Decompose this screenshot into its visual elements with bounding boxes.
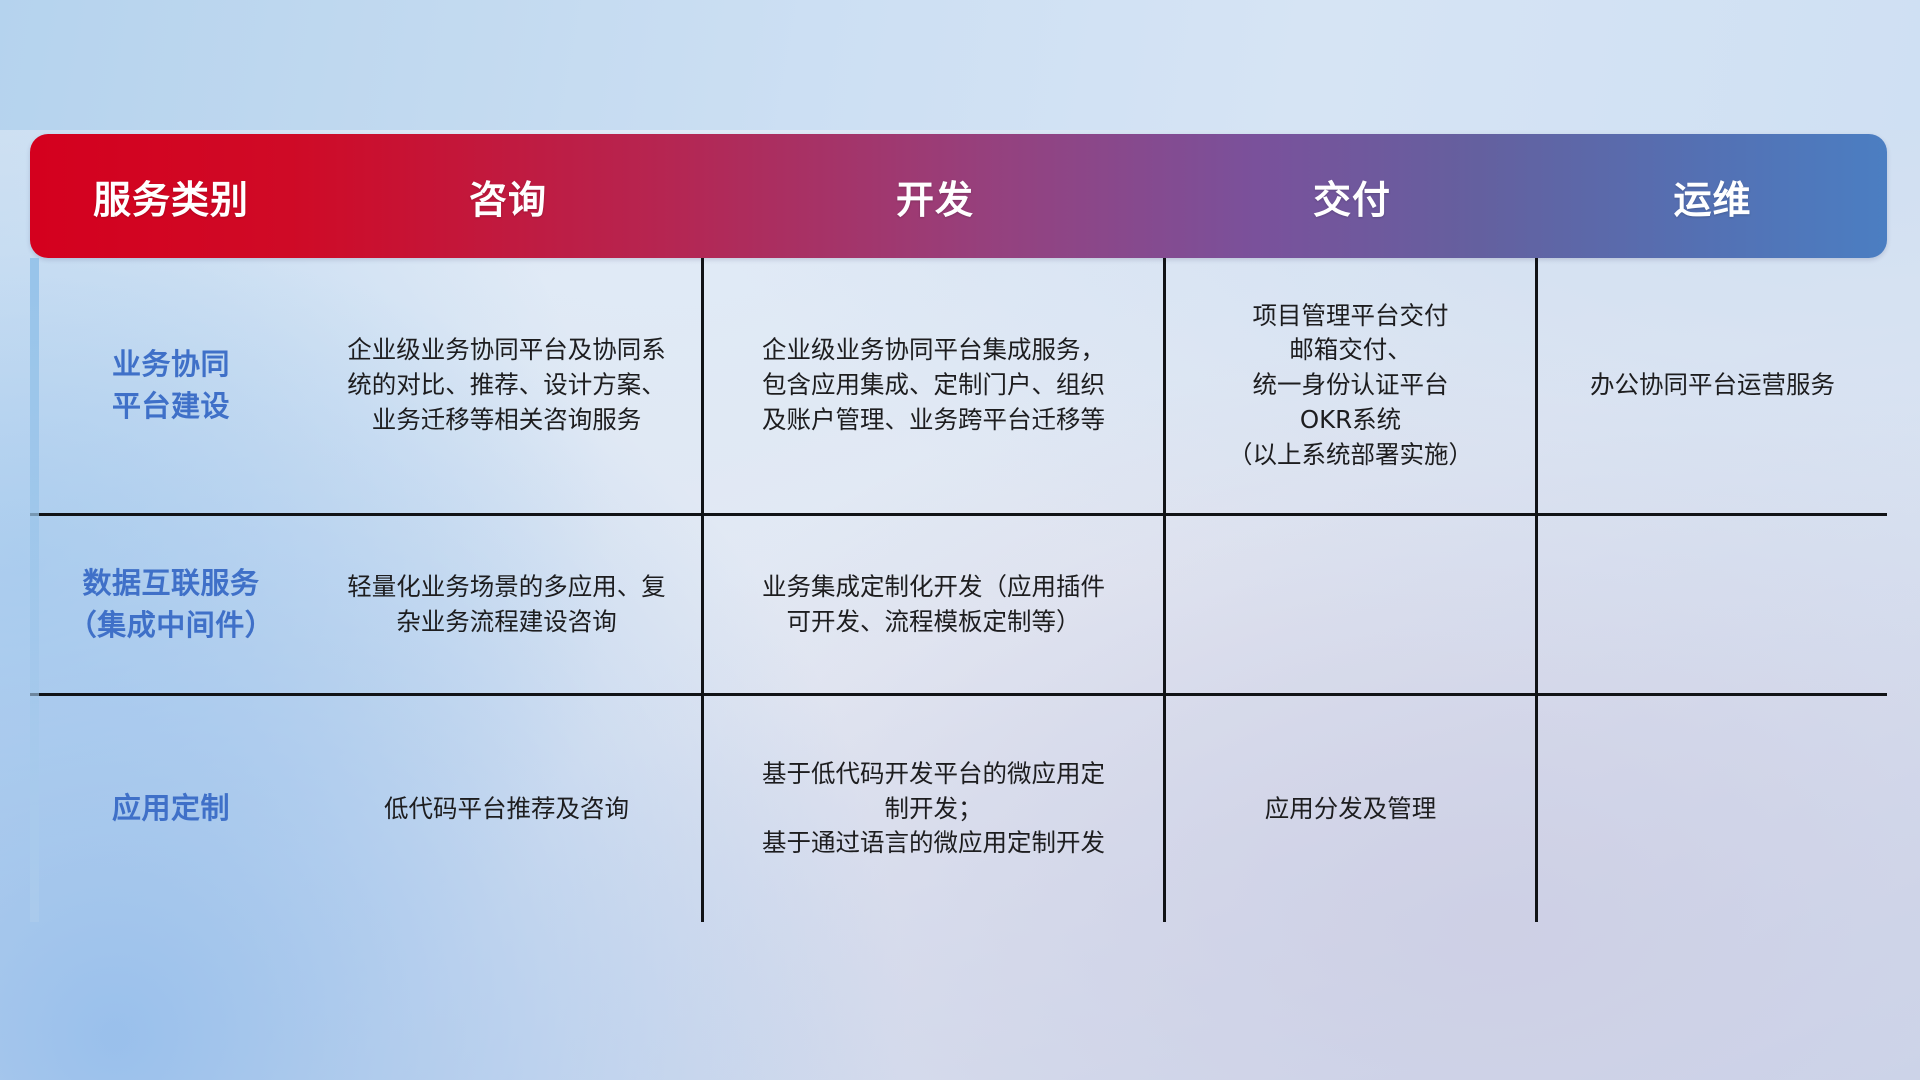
table-row: 应用定制 低代码平台推荐及咨询 基于低代码开发平台的微应用定 制开发； 基于通过… <box>30 696 1887 922</box>
cell-development: 企业级业务协同平台集成服务， 包含应用集成、定制门户、组织 及账户管理、业务跨平… <box>704 258 1166 516</box>
cell-consulting: 低代码平台推荐及咨询 <box>312 696 704 922</box>
slide-background-top-strip <box>0 0 1920 130</box>
table-header-cell-category: 服务类别 <box>30 134 312 258</box>
row-category-label: 数据互联服务 （集成中间件） <box>30 516 312 696</box>
cell-consulting: 轻量化业务场景的多应用、复 杂业务流程建设咨询 <box>312 516 704 696</box>
table-header-cell-consulting: 咨询 <box>312 134 704 258</box>
cell-development: 业务集成定制化开发（应用插件 可开发、流程模板定制等） <box>704 516 1166 696</box>
table-row: 数据互联服务 （集成中间件） 轻量化业务场景的多应用、复 杂业务流程建设咨询 业… <box>30 516 1887 696</box>
cell-delivery: 项目管理平台交付 邮箱交付、 统一身份认证平台 OKR系统 （以上系统部署实施） <box>1166 258 1538 516</box>
row-category-label: 应用定制 <box>30 696 312 922</box>
table-header-cell-operations: 运维 <box>1538 134 1887 258</box>
cell-development: 基于低代码开发平台的微应用定 制开发； 基于通过语言的微应用定制开发 <box>704 696 1166 922</box>
cell-operations: 办公协同平台运营服务 <box>1538 258 1887 516</box>
service-matrix-table: 服务类别 咨询 开发 交付 运维 业务协同 平台建设 企业级业务协同平台及协同系… <box>30 134 1887 954</box>
cell-operations <box>1538 516 1887 696</box>
table-header-cell-development: 开发 <box>704 134 1166 258</box>
row-category-label: 业务协同 平台建设 <box>30 258 312 516</box>
cell-consulting: 企业级业务协同平台及协同系 统的对比、推荐、设计方案、 业务迁移等相关咨询服务 <box>312 258 704 516</box>
cell-delivery: 应用分发及管理 <box>1166 696 1538 922</box>
cell-operations <box>1538 696 1887 922</box>
table-body: 业务协同 平台建设 企业级业务协同平台及协同系 统的对比、推荐、设计方案、 业务… <box>30 258 1887 922</box>
table-row: 业务协同 平台建设 企业级业务协同平台及协同系 统的对比、推荐、设计方案、 业务… <box>30 258 1887 516</box>
table-header-cell-delivery: 交付 <box>1166 134 1538 258</box>
cell-delivery <box>1166 516 1538 696</box>
table-header-row: 服务类别 咨询 开发 交付 运维 <box>30 134 1887 258</box>
